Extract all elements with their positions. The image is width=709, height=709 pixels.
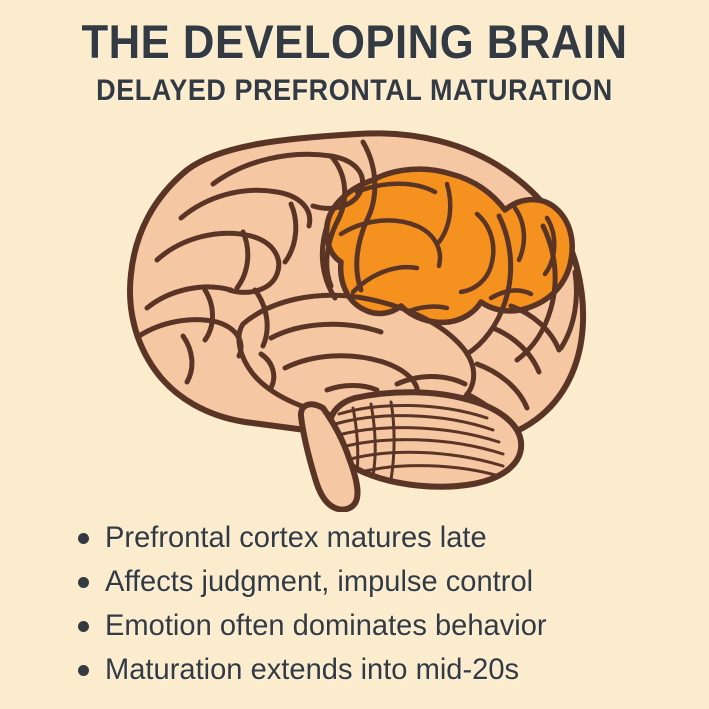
page-title: THE DEVELOPING BRAIN	[25, 16, 684, 68]
bullet-dot-icon	[78, 577, 89, 588]
list-item: Prefrontal cortex matures late	[78, 516, 678, 560]
poster-canvas: THE DEVELOPING BRAIN DELAYED PREFRONTAL …	[0, 0, 709, 709]
bullet-text: Prefrontal cortex matures late	[105, 521, 487, 555]
brain-illustration	[95, 122, 615, 512]
page-subtitle: DELAYED PREFRONTAL MATURATION	[35, 74, 673, 108]
bullet-text: Affects judgment, impulse control	[105, 565, 533, 599]
cerebellum	[328, 392, 521, 486]
list-item: Maturation extends into mid-20s	[78, 648, 678, 692]
bullet-list: Prefrontal cortex matures late Affects j…	[78, 516, 678, 692]
bullet-dot-icon	[78, 665, 89, 676]
brain-svg	[95, 122, 615, 512]
bullet-text: Emotion often dominates behavior	[105, 609, 547, 643]
bullet-dot-icon	[78, 533, 89, 544]
bullet-text: Maturation extends into mid-20s	[105, 653, 519, 687]
list-item: Emotion often dominates behavior	[78, 604, 678, 648]
list-item: Affects judgment, impulse control	[78, 560, 678, 604]
bullet-dot-icon	[78, 621, 89, 632]
header-block: THE DEVELOPING BRAIN DELAYED PREFRONTAL …	[0, 16, 709, 108]
